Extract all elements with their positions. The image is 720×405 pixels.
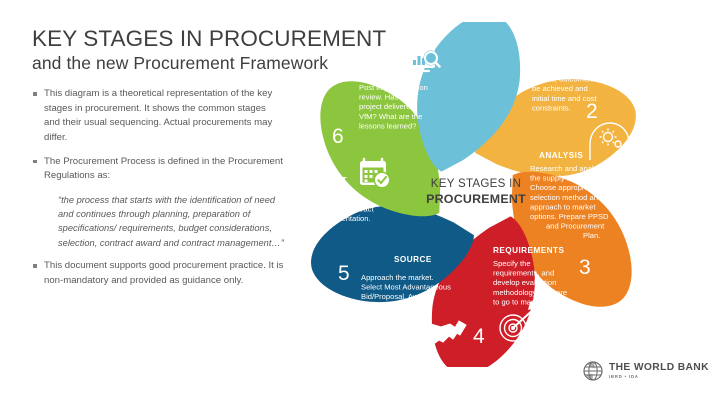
- stage-number-3: 3: [579, 256, 591, 279]
- stage-number-5: 5: [338, 262, 350, 285]
- stage-label-requirements: REQUIREMENTS: [493, 246, 564, 255]
- stage-number-6: 6: [332, 125, 344, 148]
- slide-root: KEY STAGES IN PROCUREMENT and the new Pr…: [0, 0, 720, 405]
- stage-body-implement: Proactively manage contract implementati…: [317, 195, 376, 223]
- bullet-list: This diagram is a theoretical representa…: [32, 87, 284, 288]
- left-text-column: KEY STAGES IN PROCUREMENT and the new Pr…: [32, 26, 284, 297]
- center-label-line2: PROCUREMENT: [426, 192, 526, 206]
- stage-number-4: 4: [473, 325, 485, 348]
- calendar-check-icon: [360, 159, 391, 189]
- logo-subtitle: IBRD • IDA: [609, 375, 709, 379]
- bullet-item-3: This document supports good procurement …: [32, 259, 284, 288]
- logo-name: THE WORLD BANK: [609, 363, 709, 373]
- regulation-quote: “the process that starts with the identi…: [58, 193, 284, 251]
- page-subtitle: and the new Procurement Framework: [32, 53, 284, 74]
- stage-label-source: SOURCE: [394, 255, 432, 264]
- center-label-line1: KEY STAGES IN: [431, 177, 521, 190]
- diagram-center-label: KEY STAGES IN PROCUREMENT: [426, 177, 526, 206]
- page-title: KEY STAGES IN PROCUREMENT: [32, 26, 284, 51]
- bullet-item-1: This diagram is a theoretical representa…: [32, 87, 284, 145]
- lightbulb-icon: [626, 58, 662, 90]
- stage-number-2: 2: [586, 100, 598, 123]
- stage-label-check: CHECK: [360, 68, 391, 77]
- key-stages-pinwheel-diagram: KEY STAGES IN PROCUREMENT 1 IDENTIFICATI…: [281, 22, 671, 367]
- stage-label-identification: IDENTIFICATION: [535, 50, 606, 59]
- globe-icon: [583, 361, 603, 381]
- bullet-item-2: The Procurement Process is defined in th…: [32, 155, 284, 184]
- stage-label-implement: IMPLEMENT: [295, 176, 347, 185]
- stage-label-analysis: ANALYSIS: [539, 151, 583, 160]
- stage-number-1: 1: [521, 40, 533, 63]
- world-bank-logo: THE WORLD BANK IBRD • IDA: [583, 361, 709, 381]
